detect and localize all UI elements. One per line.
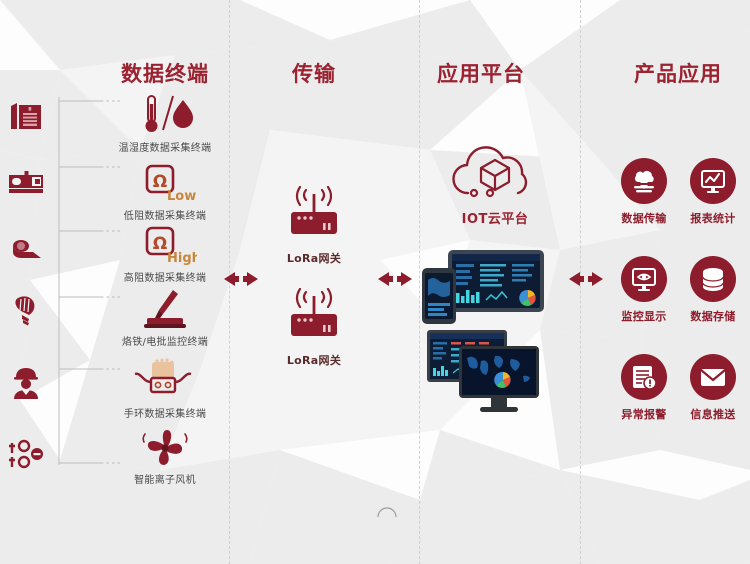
product-label: 报表统计 [676, 210, 750, 226]
soldering-iron-icon [100, 286, 230, 330]
arrow-terminal-transmission [218, 268, 264, 290]
gateway-lora-1[interactable]: LoRa网关 [259, 186, 369, 266]
arc-mark [376, 505, 398, 519]
svg-text:Ω: Ω [153, 172, 167, 192]
omega-badge-high: High [167, 251, 197, 266]
wristband-icon [100, 358, 230, 402]
terminal-label: 手环数据采集终端 [100, 405, 230, 420]
product-monitor-display[interactable]: 监控显示 [607, 256, 681, 324]
worker-icon [8, 365, 44, 401]
database-icon [690, 256, 736, 302]
section-header-data-terminal: 数据终端 [105, 58, 225, 88]
roll-icon [8, 232, 44, 268]
terminal-low-ohm[interactable]: Ω Low 低阻数据采集终端 [100, 160, 230, 222]
diagram-canvas: 数据终端 传输 应用平台 产品应用 [0, 0, 750, 564]
terminal-wristband[interactable]: 手环数据采集终端 [100, 358, 230, 420]
terminal-high-ohm[interactable]: Ω High 高阻数据采集终端 [100, 222, 230, 284]
product-abnormal-alarm[interactable]: 异常报警 [607, 354, 681, 422]
product-data-storage[interactable]: 数据存储 [676, 256, 750, 324]
arrow-transmission-platform [372, 268, 418, 290]
eye-monitor-icon [621, 256, 667, 302]
product-data-transmission[interactable]: 数据传输 [607, 158, 681, 226]
terminal-label: 智能离子风机 [100, 471, 230, 486]
omega-high-icon: Ω High [100, 222, 230, 266]
chart-monitor-icon [690, 158, 736, 204]
terminal-label: 低阻数据采集终端 [100, 207, 230, 222]
product-label: 监控显示 [607, 308, 681, 324]
cloud-cube-icon [430, 145, 560, 203]
section-header-product-application: 产品应用 [618, 58, 738, 88]
terminal-ion-fan[interactable]: 智能离子风机 [100, 424, 230, 486]
product-label: 异常报警 [607, 406, 681, 422]
omega-low-icon: Ω Low [100, 160, 230, 204]
thermometer-droplet-icon [100, 92, 230, 136]
terminal-temp-humidity[interactable]: 温湿度数据采集终端 [100, 92, 230, 154]
envelope-icon [690, 354, 736, 400]
product-report-statistics[interactable]: 报表统计 [676, 158, 750, 226]
gateway-label: LoRa网关 [259, 352, 369, 368]
section-header-transmission: 传输 [274, 58, 354, 88]
product-label: 数据存储 [676, 308, 750, 324]
terminal-label: 温湿度数据采集终端 [100, 139, 230, 154]
omega-badge-low: Low [167, 189, 196, 204]
lora-router-icon [279, 288, 349, 346]
gateway-label: LoRa网关 [259, 250, 369, 266]
product-message-push[interactable]: 信息推送 [676, 354, 750, 422]
ion-fan-icon [100, 424, 230, 468]
iot-cloud-platform[interactable]: IOT云平台 [430, 145, 560, 227]
terminal-label: 高阻数据采集终端 [100, 269, 230, 284]
alert-document-icon [621, 354, 667, 400]
terminal-label: 烙铁/电批监控终端 [100, 333, 230, 348]
factory-icon [8, 96, 44, 132]
controls-icon [8, 437, 44, 473]
cloud-label: IOT云平台 [430, 208, 560, 227]
section-header-application-platform: 应用平台 [421, 58, 541, 88]
tablet-phone-group[interactable] [420, 248, 548, 328]
product-label: 信息推送 [676, 406, 750, 422]
product-label: 数据传输 [607, 210, 681, 226]
arrow-platform-product [563, 268, 609, 290]
machine-icon [8, 163, 44, 199]
monitor-group[interactable] [425, 328, 545, 418]
gateway-lora-2[interactable]: LoRa网关 [259, 288, 369, 368]
cloud-upload-icon [621, 158, 667, 204]
lora-router-icon [279, 186, 349, 244]
lightbulb-icon [8, 292, 44, 328]
svg-text:Ω: Ω [153, 234, 167, 254]
terminal-soldering[interactable]: 烙铁/电批监控终端 [100, 286, 230, 348]
